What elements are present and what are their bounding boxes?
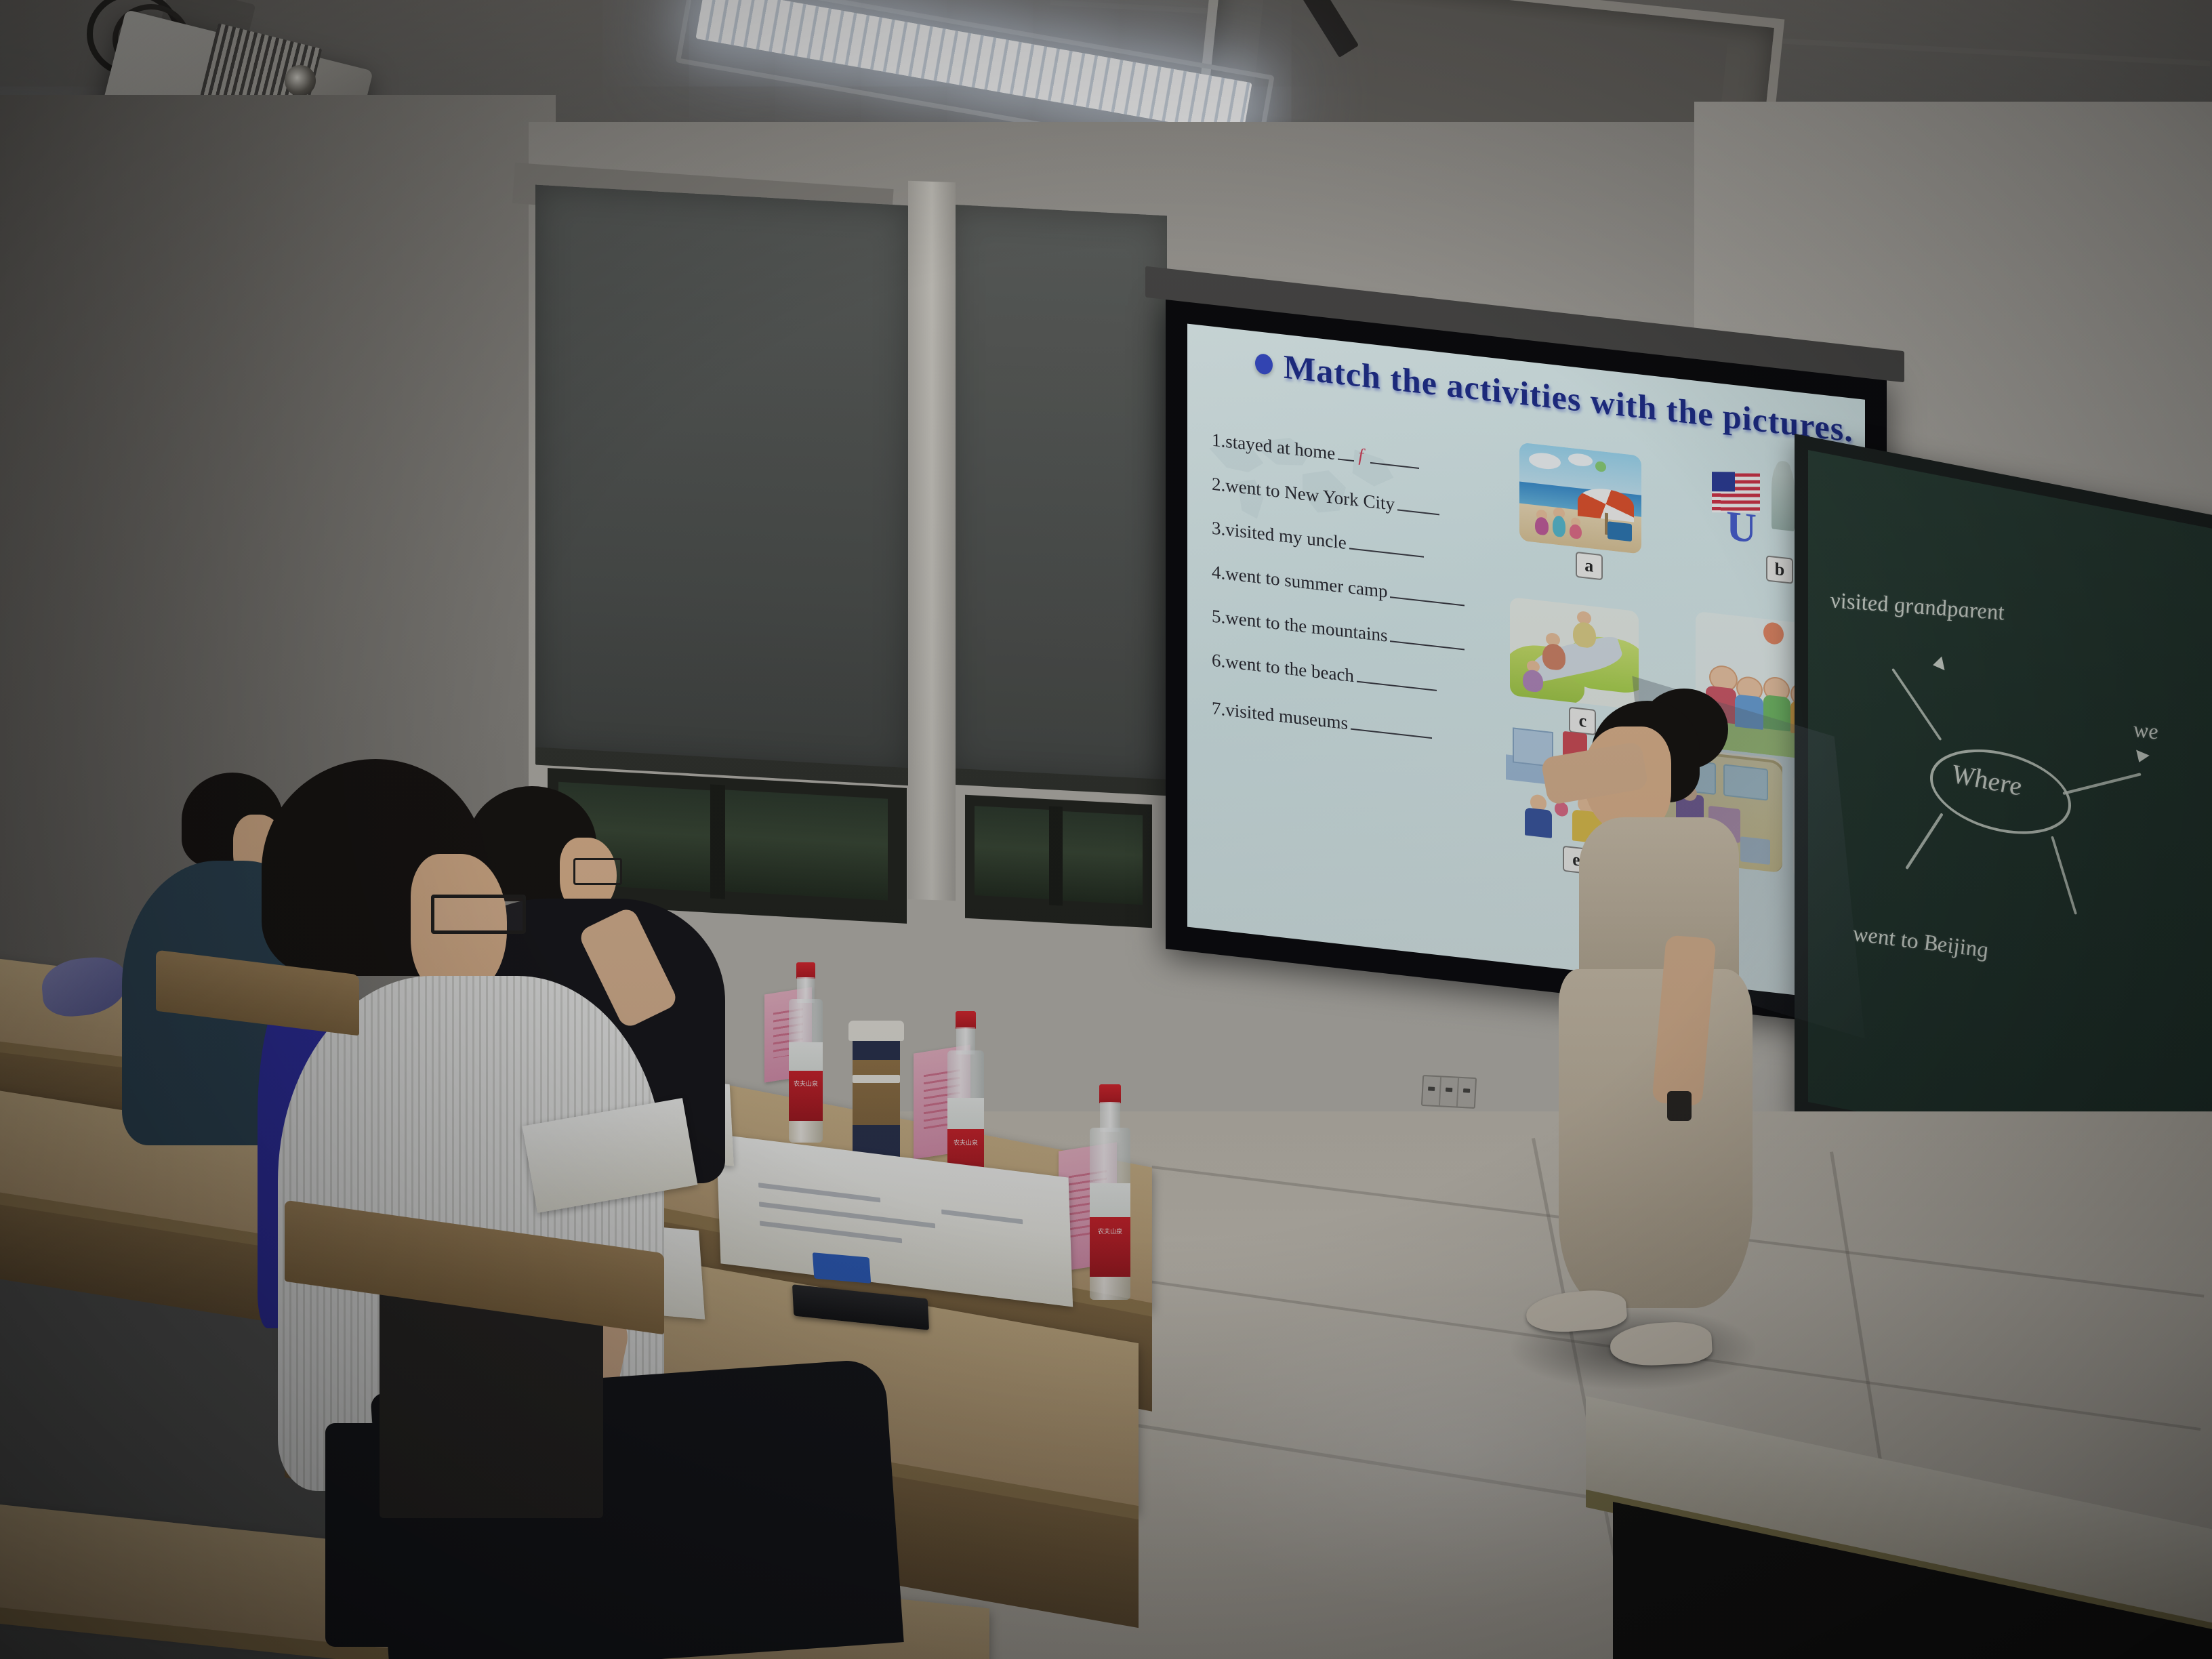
- list-item-text: visited museums: [1225, 699, 1348, 734]
- bottle-label-lower-3: 农夫山泉: [1090, 1217, 1130, 1277]
- picture-label: b: [1766, 555, 1793, 583]
- title-bullet-icon: [1255, 353, 1273, 375]
- bottle-cap-2: [956, 1011, 976, 1029]
- paper-text-line: [941, 1210, 1023, 1225]
- observer-front-glasses[interactable]: [431, 895, 526, 934]
- chalk-connector-3: [1905, 813, 1943, 869]
- chalk-arrow-right-icon: [2136, 750, 2151, 762]
- list-item: 3. visited my uncle: [1212, 518, 1496, 571]
- presenter-remote[interactable]: [1667, 1091, 1692, 1121]
- bottle-brand-text-2: 农夫山泉: [947, 1138, 984, 1147]
- chalk-connector-2: [2062, 773, 2142, 795]
- window-glass-right-a: [975, 806, 1049, 899]
- front-podium-desk: [1586, 1328, 2212, 1659]
- projector-lens-icon: [285, 65, 316, 96]
- teacher-dress-bodice: [1579, 817, 1739, 994]
- socket-outlet-1: [1422, 1076, 1441, 1105]
- roller-blind-2: [950, 205, 1167, 785]
- bottle-brand-text-3: 农夫山泉: [1090, 1227, 1130, 1235]
- coffee-cup-sleeve-band: [853, 1075, 900, 1083]
- list-item-text: went to the mountains: [1225, 607, 1387, 647]
- list-item-number: 1.: [1212, 430, 1225, 452]
- list-item: 2. went to New York City: [1212, 474, 1496, 527]
- teacher-shoe-left: [1525, 1288, 1628, 1336]
- activity-list: 1. stayed at home f 2. went to New York …: [1212, 430, 1496, 769]
- list-item-answer: f: [1354, 444, 1368, 466]
- list-item-text: went to the beach: [1225, 651, 1354, 687]
- beach-picture: a: [1519, 443, 1641, 554]
- water-bottle-1[interactable]: 农夫山泉: [785, 962, 827, 1143]
- chalk-branch-visited-grandparent: visited grandparent: [1829, 588, 2006, 626]
- coffee-cup[interactable]: [853, 1030, 900, 1166]
- bottle-label-lower-1: 农夫山泉: [789, 1071, 823, 1121]
- picture-label: a: [1576, 552, 1603, 580]
- bottle-cap-1: [796, 962, 815, 979]
- teacher-dress-skirt: [1559, 969, 1753, 1308]
- chalk-connector-1: [1891, 668, 1942, 741]
- bottle-brand-text-1: 农夫山泉: [789, 1079, 823, 1088]
- chalk-branch-went-to-beijing: went to Beijing: [1852, 922, 1989, 964]
- bottle-cap-3: [1099, 1084, 1121, 1103]
- list-item: 5. went to the mountains: [1212, 606, 1496, 659]
- desk-blue-marker: [813, 1252, 871, 1284]
- wall-socket-panel[interactable]: [1421, 1075, 1477, 1109]
- paper-text-line: [760, 1221, 902, 1243]
- bottle-label-upper-3: [1090, 1183, 1130, 1218]
- list-item: 6. went to the beach: [1212, 650, 1496, 703]
- blackboard: visited grandparent we Where went to Bei…: [1808, 450, 2212, 1183]
- teacher: [1538, 684, 1769, 1362]
- list-item-text: went to New York City: [1225, 475, 1395, 515]
- socket-outlet-3: [1458, 1078, 1475, 1107]
- list-item-number: 2.: [1212, 474, 1225, 496]
- window-glass-left-b: [724, 790, 888, 901]
- letter-u-glyph: U: [1726, 502, 1757, 554]
- beach-picture-art: [1519, 443, 1641, 554]
- window-glass-right-b: [1061, 811, 1143, 905]
- list-item-text: visited my uncle: [1225, 519, 1346, 554]
- list-item-number: 4.: [1212, 562, 1225, 584]
- list-item-text: went to summer camp: [1225, 563, 1387, 602]
- list-item: 4. went to summer camp: [1212, 562, 1496, 615]
- bottle-label-upper-2: [947, 1098, 984, 1130]
- chalk-connector-4: [2051, 836, 2077, 915]
- list-item-number: 6.: [1212, 650, 1225, 672]
- paper-text-line: [758, 1183, 880, 1202]
- chalk-arrow-up-icon: [1933, 654, 1948, 670]
- list-item-number: 5.: [1212, 606, 1225, 628]
- classroom-scene: Match the activities with the pictures. …: [0, 0, 2212, 1659]
- water-bottle-3[interactable]: 农夫山泉: [1086, 1084, 1134, 1300]
- socket-outlet-2: [1440, 1077, 1459, 1106]
- chalk-branch-went: we: [2132, 718, 2159, 745]
- window-mullion-right: [1049, 806, 1063, 905]
- list-item-number: 3.: [1212, 518, 1225, 540]
- teacher-shoe-right: [1609, 1320, 1713, 1368]
- wall-pillar: [908, 181, 956, 901]
- coffee-cup-lid: [848, 1021, 904, 1041]
- bottle-label-upper-1: [789, 1042, 823, 1072]
- list-item-number: 7.: [1212, 698, 1225, 720]
- list-item: 7. visited museums: [1212, 698, 1496, 751]
- roller-blind: [535, 185, 908, 775]
